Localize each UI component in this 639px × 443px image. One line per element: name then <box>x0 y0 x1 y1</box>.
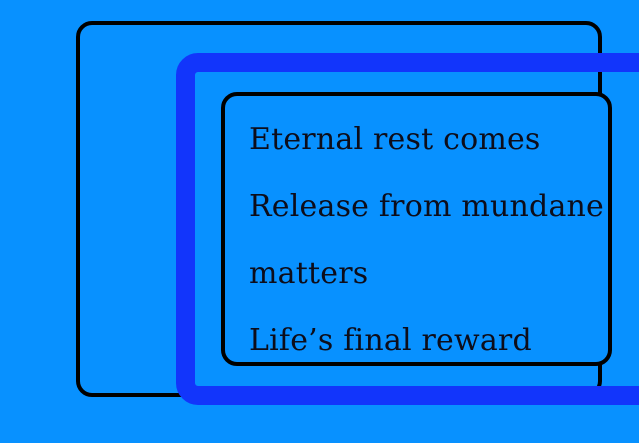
poem-line: matters <box>249 240 600 307</box>
poem-text-block: Eternal rest comes Release from mundane … <box>249 106 600 374</box>
outer-border-frame: Eternal rest comes Release from mundane … <box>76 21 602 397</box>
poster-canvas: Eternal rest comes Release from mundane … <box>0 0 639 443</box>
poem-line: Release from mundane <box>249 173 600 240</box>
poem-line: Life’s final reward <box>249 307 600 374</box>
poem-line: Eternal rest comes <box>249 106 600 173</box>
inner-border-frame: Eternal rest comes Release from mundane … <box>221 92 612 366</box>
